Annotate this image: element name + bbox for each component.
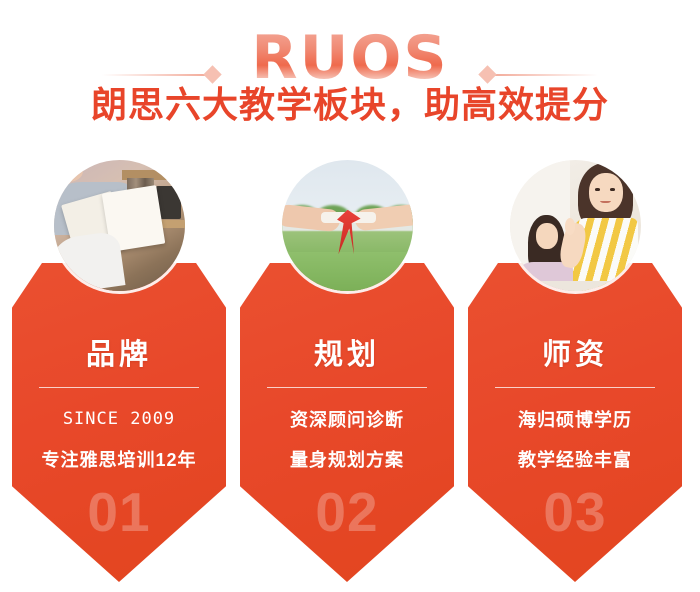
card-divider xyxy=(495,387,655,388)
card-divider xyxy=(267,387,427,388)
card-title: 师资 xyxy=(468,341,682,370)
card-index-number: 03 xyxy=(468,485,682,540)
card-content-faculty: 师资 海归硕博学历 教学经验丰富 03 xyxy=(468,263,682,582)
feature-card-faculty[interactable]: 师资 海归硕博学历 教学经验丰富 03 xyxy=(468,160,682,582)
card-line-2: 专注雅思培训12年 xyxy=(12,451,226,469)
card-divider xyxy=(39,387,199,388)
card-content-brand: 品牌 SINCE 2009 专注雅思培训12年 01 xyxy=(12,263,226,582)
card-title: 规划 xyxy=(240,341,454,370)
decor-rule-left xyxy=(102,74,212,76)
feature-card-brand[interactable]: 品牌 SINCE 2009 专注雅思培训12年 01 xyxy=(12,160,226,582)
card-line-2: 量身规划方案 xyxy=(240,451,454,469)
header-banner: RUOS 朗思六大教学板块，助高效提分 xyxy=(0,0,700,150)
card-content-planning: 规划 资深顾问诊断 量身规划方案 02 xyxy=(240,263,454,582)
watermark-text: RUOS xyxy=(0,28,700,88)
card-title: 品牌 xyxy=(12,341,226,370)
card-line-2: 教学经验丰富 xyxy=(468,451,682,469)
card-line-1: 资深顾问诊断 xyxy=(240,411,454,429)
page-title: 朗思六大教学板块，助高效提分 xyxy=(0,84,700,125)
feature-card-list: 品牌 SINCE 2009 专注雅思培训12年 01 规划 资深顾问诊断 量身规… xyxy=(0,160,700,592)
decor-rule-right xyxy=(488,74,598,76)
card-index-number: 01 xyxy=(12,485,226,540)
card-line-1: 海归硕博学历 xyxy=(468,411,682,429)
card-index-number: 02 xyxy=(240,485,454,540)
feature-card-planning[interactable]: 规划 资深顾问诊断 量身规划方案 02 xyxy=(240,160,454,582)
card-line-1: SINCE 2009 xyxy=(12,411,226,428)
